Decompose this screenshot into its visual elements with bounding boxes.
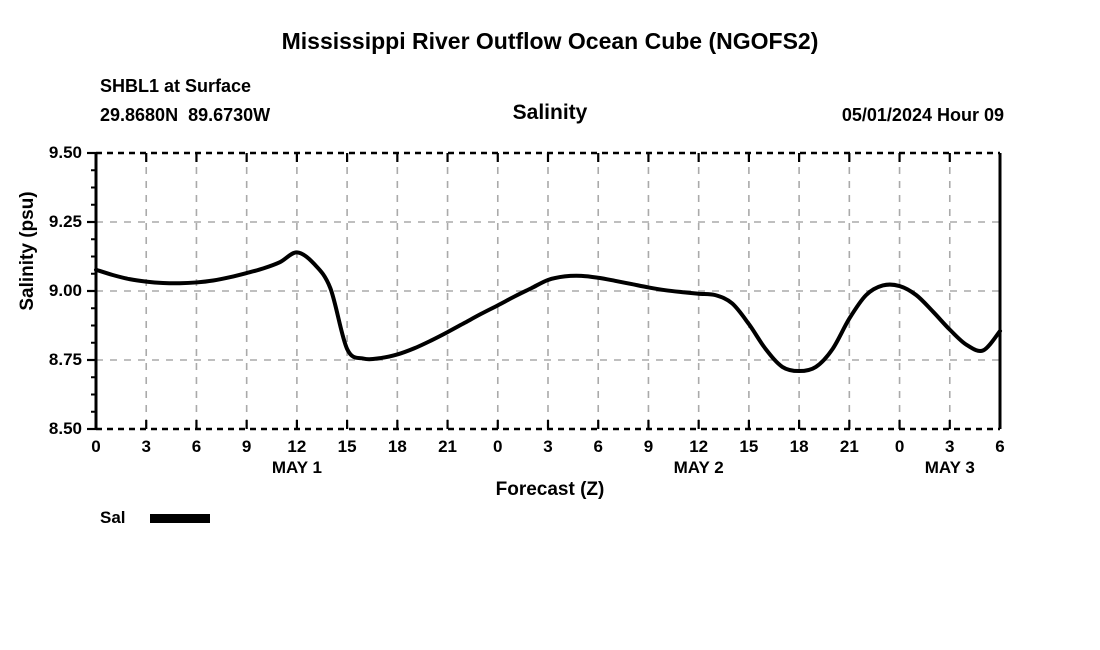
y-tick-label: 8.50	[22, 419, 82, 439]
x-tick-label: 15	[729, 437, 769, 457]
y-tick-label: 9.00	[22, 281, 82, 301]
x-tick-label: 0	[478, 437, 518, 457]
x-day-label: MAY 3	[890, 458, 1010, 478]
x-tick-label: 3	[126, 437, 166, 457]
x-tick-label: 21	[829, 437, 869, 457]
y-axis-title: Salinity (psu)	[17, 171, 39, 331]
x-tick-label: 3	[930, 437, 970, 457]
legend-label-sal: Sal	[100, 508, 126, 528]
x-tick-label: 6	[176, 437, 216, 457]
x-tick-label: 18	[377, 437, 417, 457]
x-tick-label: 0	[76, 437, 116, 457]
x-axis-title: Forecast (Z)	[0, 479, 1100, 501]
x-tick-label: 6	[980, 437, 1020, 457]
x-tick-label: 15	[327, 437, 367, 457]
x-day-label: MAY 1	[237, 458, 357, 478]
y-tick-label: 9.25	[22, 212, 82, 232]
x-tick-label: 9	[628, 437, 668, 457]
x-tick-label: 0	[880, 437, 920, 457]
x-tick-label: 12	[679, 437, 719, 457]
legend: Sal	[100, 508, 210, 528]
y-tick-label: 9.50	[22, 143, 82, 163]
x-day-label: MAY 2	[639, 458, 759, 478]
chart-page: Mississippi River Outflow Ocean Cube (NG…	[0, 0, 1100, 650]
x-tick-label: 3	[528, 437, 568, 457]
gridlines	[96, 153, 1000, 429]
plot-area	[0, 0, 1100, 650]
x-tick-label: 21	[428, 437, 468, 457]
legend-swatch-sal	[150, 514, 210, 523]
y-tick-label: 8.75	[22, 350, 82, 370]
x-tick-label: 18	[779, 437, 819, 457]
x-tick-label: 9	[227, 437, 267, 457]
x-tick-label: 12	[277, 437, 317, 457]
x-tick-label: 6	[578, 437, 618, 457]
